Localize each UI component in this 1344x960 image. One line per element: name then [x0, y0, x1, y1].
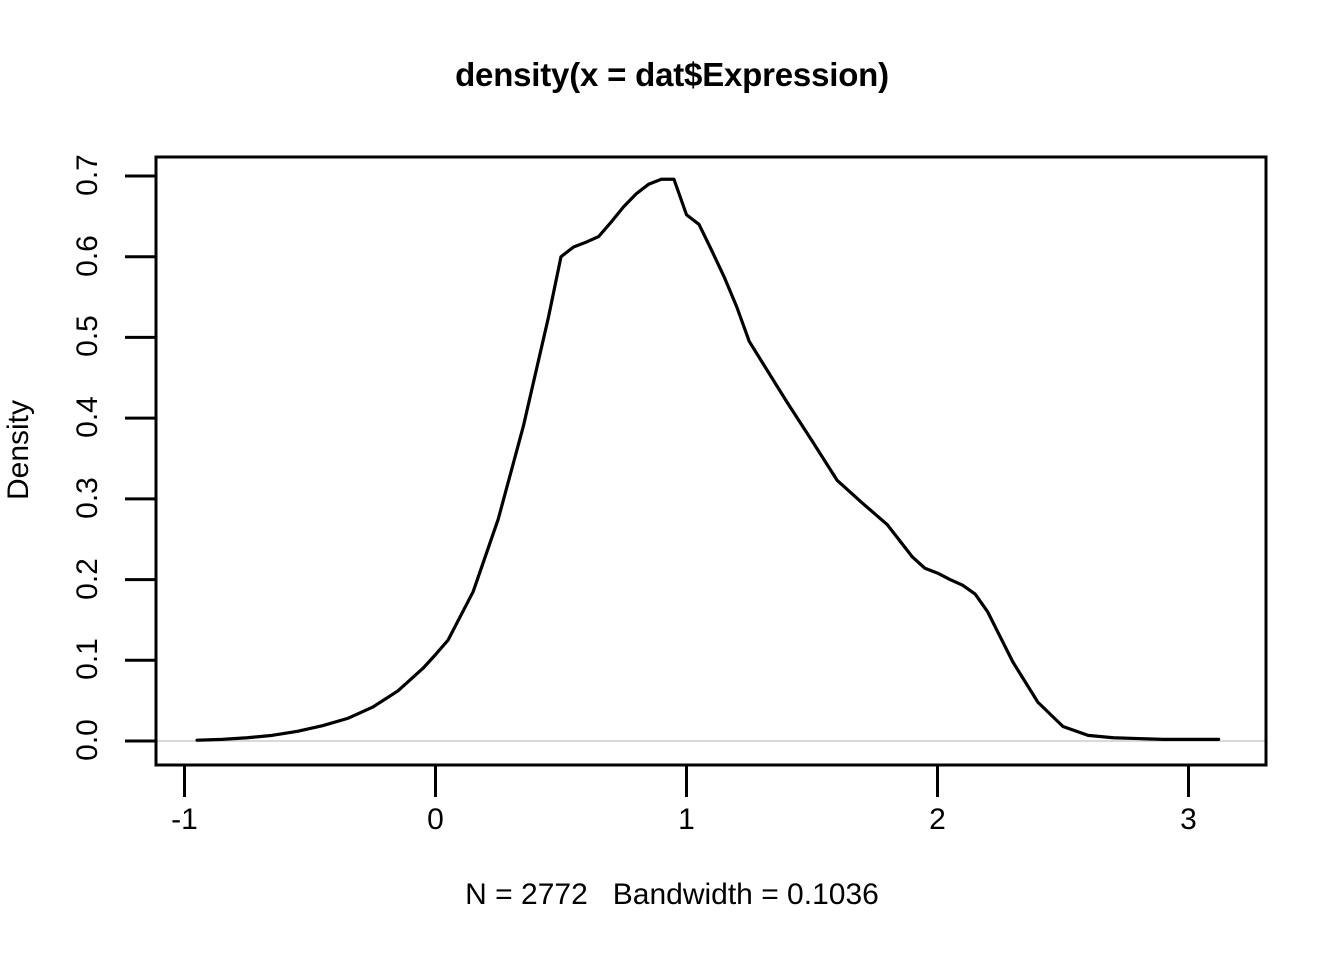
y-tick-label: 0.7: [71, 140, 105, 210]
y-tick-label: 0.0: [71, 705, 105, 775]
y-tick-label: 0.4: [71, 382, 105, 452]
x-axis-tick-marks: [185, 766, 1189, 797]
x-tick-label: -1: [155, 803, 215, 837]
density-curve: [197, 179, 1219, 740]
x-tick-label: 1: [657, 803, 717, 837]
x-tick-label: 2: [908, 803, 968, 837]
r-plot-canvas: density(x = dat$Expression) Density N = …: [0, 0, 1344, 960]
y-tick-label: 0.2: [71, 544, 105, 614]
y-tick-label: 0.3: [71, 463, 105, 533]
x-tick-label: 0: [406, 803, 466, 837]
density-curve-group: [197, 179, 1219, 740]
y-tick-label: 0.1: [71, 624, 105, 694]
y-tick-label: 0.5: [71, 301, 105, 371]
x-tick-label: 3: [1159, 803, 1219, 837]
y-axis-tick-marks: [125, 176, 156, 741]
y-tick-label: 0.6: [71, 221, 105, 291]
